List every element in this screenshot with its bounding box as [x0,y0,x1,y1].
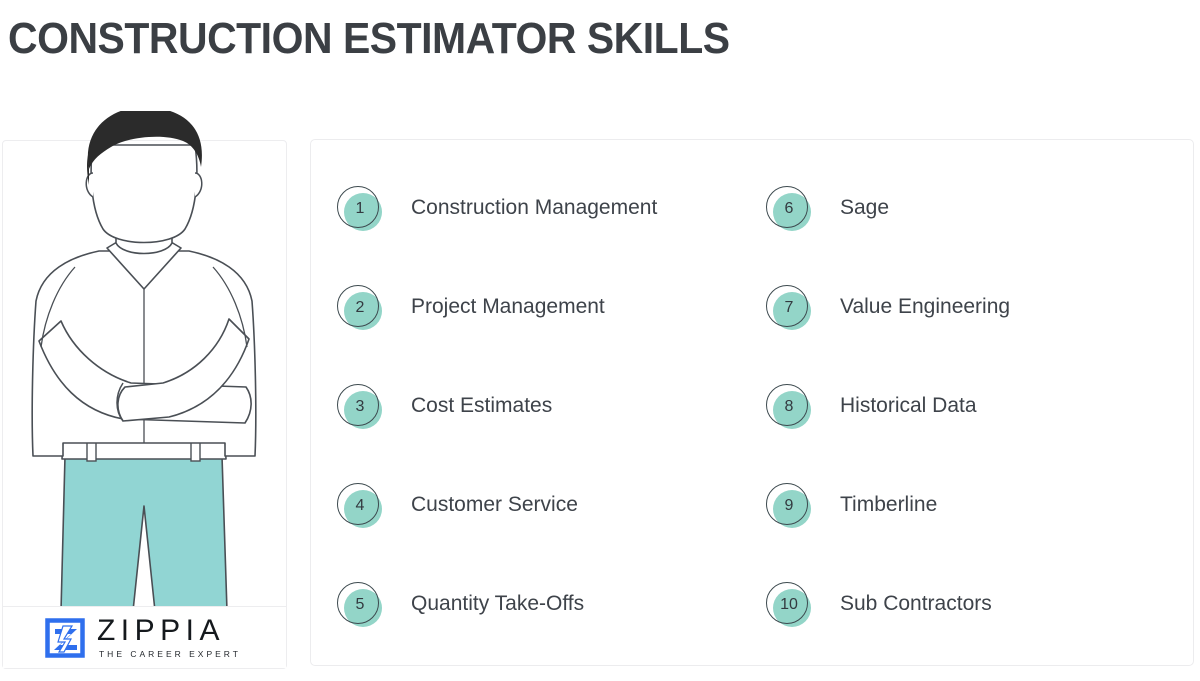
ear-right [195,173,202,197]
skill-number-badge: 5 [337,582,385,630]
zippia-logo: ZIPPIA THE CAREER EXPERT [3,606,286,668]
skills-panel: 1Construction Management2Project Managem… [310,139,1194,666]
badge-ring-circle: 9 [766,483,808,525]
ear-left [86,173,93,197]
skill-item: 6Sage [766,186,1186,285]
head-shape [91,145,197,243]
skill-number: 7 [785,300,794,316]
zippia-z-mark-icon [44,617,86,659]
skills-column-right: 6Sage7Value Engineering8Historical Data9… [766,186,1186,681]
badge-ring-circle: 10 [766,582,808,624]
illustration-card: ZIPPIA THE CAREER EXPERT [2,140,287,669]
skill-number: 1 [356,201,365,217]
skill-number: 6 [785,201,794,217]
skill-number-badge: 7 [766,285,814,333]
skill-number-badge: 6 [766,186,814,234]
skill-item: 4Customer Service [337,483,757,582]
skill-number: 9 [785,498,794,514]
skill-label: Sub Contractors [840,593,992,614]
badge-ring-circle: 3 [337,384,379,426]
skill-label: Project Management [411,296,605,317]
skill-item: 7Value Engineering [766,285,1186,384]
skill-item: 1Construction Management [337,186,757,285]
skill-number-badge: 9 [766,483,814,531]
badge-ring-circle: 5 [337,582,379,624]
belt-loop-right [191,441,200,461]
skill-item: 2Project Management [337,285,757,384]
skill-label: Cost Estimates [411,395,552,416]
skill-label: Timberline [840,494,937,515]
person-illustration [3,111,286,608]
skill-item: 10Sub Contractors [766,582,1186,681]
skill-label: Customer Service [411,494,578,515]
skill-number: 2 [356,300,365,316]
skill-number: 8 [785,399,794,415]
skill-label: Value Engineering [840,296,1010,317]
skill-number-badge: 1 [337,186,385,234]
badge-ring-circle: 8 [766,384,808,426]
skill-number-badge: 10 [766,582,814,630]
skills-column-left: 1Construction Management2Project Managem… [337,186,757,681]
skill-item: 9Timberline [766,483,1186,582]
page-title: CONSTRUCTION ESTIMATOR SKILLS [8,14,730,64]
logo-wordmark: ZIPPIA [97,616,225,646]
badge-ring-circle: 4 [337,483,379,525]
skill-number-badge: 8 [766,384,814,432]
skill-label: Historical Data [840,395,977,416]
skill-number: 10 [780,597,798,613]
skill-label: Sage [840,197,889,218]
skill-label: Quantity Take-Offs [411,593,584,614]
skill-number: 5 [356,597,365,613]
badge-ring-circle: 2 [337,285,379,327]
trousers-shape [61,456,227,608]
logo-tagline: THE CAREER EXPERT [99,650,241,659]
skill-number-badge: 2 [337,285,385,333]
skill-label: Construction Management [411,197,657,218]
skill-number-badge: 3 [337,384,385,432]
skill-number: 3 [356,399,365,415]
belt-loop-left [87,441,96,461]
skill-number: 4 [356,498,365,514]
badge-ring-circle: 6 [766,186,808,228]
skill-item: 3Cost Estimates [337,384,757,483]
skill-item: 5Quantity Take-Offs [337,582,757,681]
skill-number-badge: 4 [337,483,385,531]
skill-item: 8Historical Data [766,384,1186,483]
badge-ring-circle: 1 [337,186,379,228]
badge-ring-circle: 7 [766,285,808,327]
